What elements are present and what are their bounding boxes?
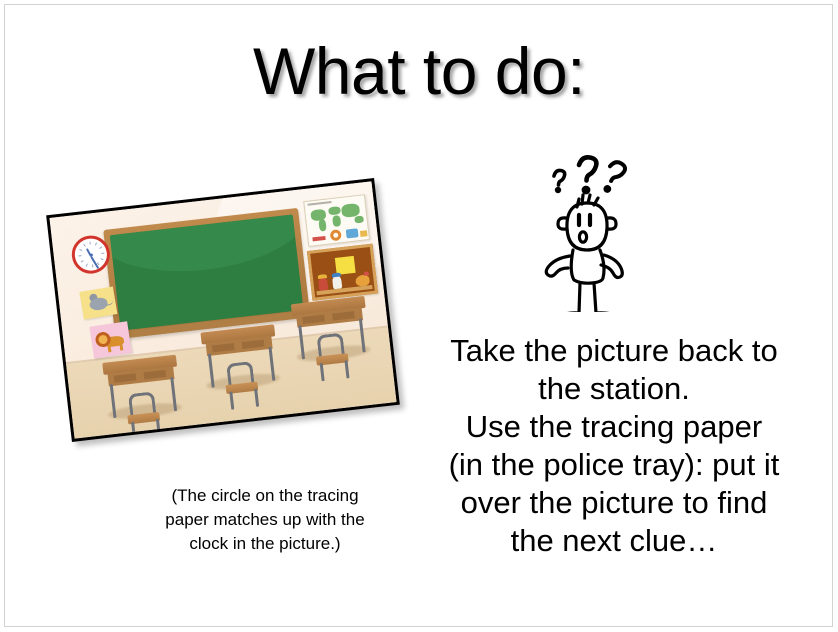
picture-caption: (The circle on the tracing paper matches…	[95, 484, 435, 556]
slide: What to do:	[0, 0, 838, 632]
chalkboard	[103, 208, 310, 339]
mouse-drawing-card	[79, 286, 117, 319]
puzzled-stick-figure-icon	[520, 152, 670, 317]
clock-center-pin	[89, 253, 92, 256]
toy-figure-red	[318, 277, 328, 291]
instructions-line-2: the station.	[404, 370, 824, 408]
instructions-line-5: over the picture to find	[404, 484, 824, 522]
classroom-picture	[46, 178, 400, 442]
lion-drawing-card	[90, 321, 132, 358]
caption-line-3: clock in the picture.)	[95, 532, 435, 556]
caption-line-1: (The circle on the tracing	[95, 484, 435, 508]
cork-board	[307, 244, 378, 301]
world-map-poster	[303, 194, 370, 247]
instructions-line-4: (in the police tray): put it	[404, 446, 824, 484]
caption-line-2: paper matches up with the	[95, 508, 435, 532]
classroom-photo-frame	[46, 178, 400, 442]
instructions-line-3: Use the tracing paper	[404, 408, 824, 446]
instructions-line-6: the next clue…	[404, 522, 824, 560]
instructions-text: Take the picture back to the station. Us…	[404, 332, 824, 560]
instructions-line-1: Take the picture back to	[404, 332, 824, 370]
toy-figure-blue	[332, 275, 342, 289]
page-title: What to do:	[0, 34, 838, 108]
